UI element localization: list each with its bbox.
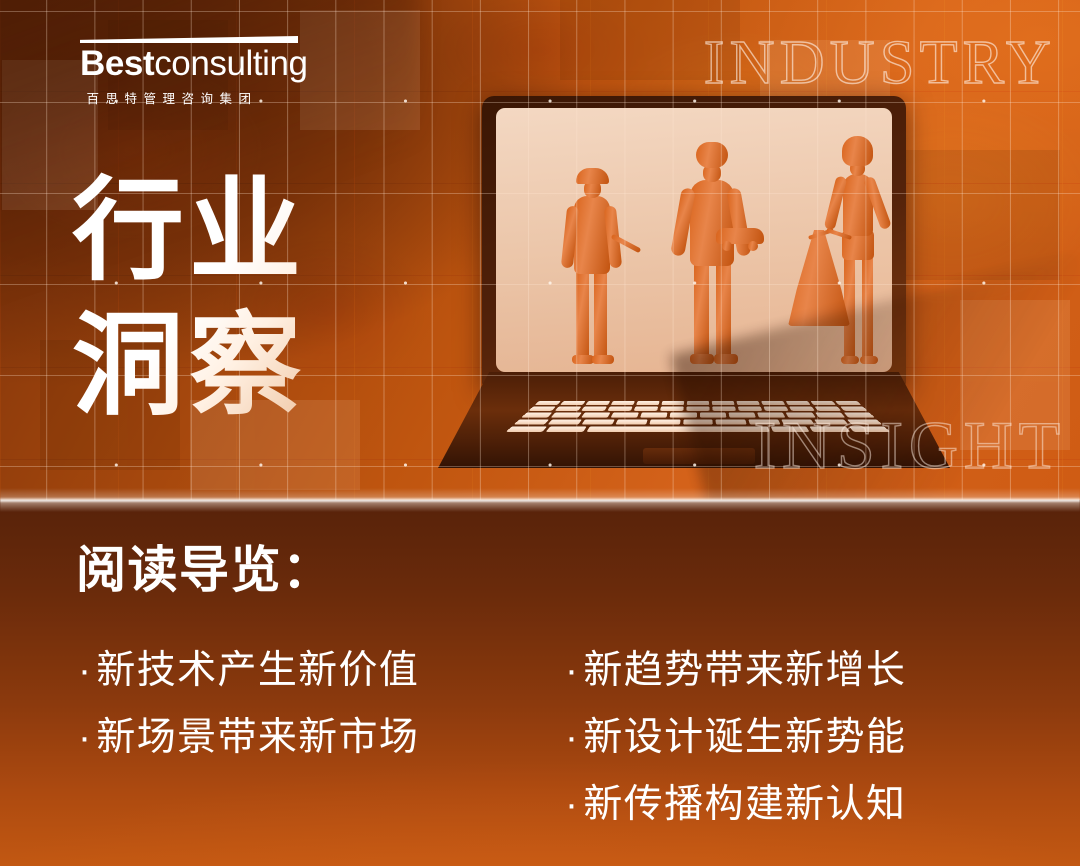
section-divider-glow (0, 488, 1080, 512)
logo-word-bold: Best (80, 44, 154, 83)
list-item-label: 新技术产生新价值 (96, 649, 419, 692)
list-item-label: 新设计诞生新势能 (583, 716, 906, 759)
page-title-line-2: 洞察 (72, 303, 306, 428)
poster-canvas: INDUSTRY INSIGHT Bestconsulting 百思特管理咨询集… (0, 0, 1080, 866)
page-title: 行业洞察 (72, 168, 306, 429)
bullet-icon: · (565, 716, 579, 759)
logo-wordmark: Bestconsulting (80, 46, 298, 83)
bullet-icon: · (78, 649, 92, 692)
list-item: ·新传播构建新认知 (565, 782, 906, 828)
reading-guide-heading: 阅读导览： (76, 530, 334, 602)
bullet-icon: · (565, 649, 579, 692)
reading-guide-left-column: ·新技术产生新价值 ·新场景带来新市场 (78, 648, 419, 782)
bullet-icon: · (565, 783, 579, 826)
list-item-label: 新传播构建新认知 (583, 783, 906, 826)
hero-section: INDUSTRY INSIGHT Bestconsulting 百思特管理咨询集… (0, 0, 1080, 500)
bullet-icon: · (78, 716, 92, 759)
reading-guide-right-column: ·新趋势带来新增长 ·新设计诞生新势能 ·新传播构建新认知 (565, 648, 906, 849)
list-item-label: 新趋势带来新增长 (583, 649, 906, 692)
page-title-line-1: 行业 (72, 168, 306, 293)
logo-word-light: consulting (154, 44, 307, 83)
logo-chinese-name: 百思特管理咨询集团 (80, 88, 298, 107)
list-item: ·新趋势带来新增长 (565, 648, 906, 694)
list-item: ·新技术产生新价值 (78, 648, 419, 694)
reading-guide-section: 阅读导览： ·新技术产生新价值 ·新场景带来新市场 ·新趋势带来新增长 ·新设计… (0, 500, 1080, 866)
list-item: ·新场景带来新市场 (78, 715, 419, 761)
logo-accent-bar (80, 36, 298, 43)
list-item: ·新设计诞生新势能 (565, 715, 906, 761)
brand-logo[interactable]: Bestconsulting 百思特管理咨询集团 (80, 36, 298, 107)
list-item-label: 新场景带来新市场 (96, 716, 419, 759)
